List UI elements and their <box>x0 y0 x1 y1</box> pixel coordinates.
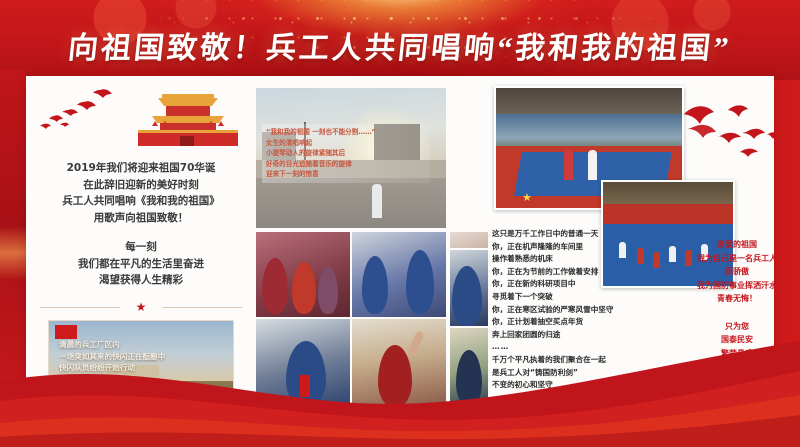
photo-singing-women <box>256 232 350 317</box>
body-line: 你，正在寒区试验的严寒风雪中坚守 <box>492 304 652 317</box>
intro-line: 渴望获得人生精彩 <box>34 272 248 289</box>
slogan-line: 青春无悔！ <box>656 292 774 306</box>
roof-shape <box>496 88 682 114</box>
photo-portrait-worker <box>450 250 488 326</box>
caption-line: 迎来下一刻的惊喜 <box>266 169 426 180</box>
star-icon: ★ <box>522 191 532 204</box>
caption-line: 好奇的目光追随着音乐的旋律 <box>266 159 426 170</box>
caption-line: 小提琴动人的旋律紧随其后 <box>266 148 426 159</box>
intro-line: 我们都在平凡的生活里奋进 <box>34 256 248 273</box>
intro-line: 2019年我们将迎来祖国70华诞 <box>34 160 248 177</box>
red-floor-shape <box>603 204 733 224</box>
body-line: 你，正在为节前的工作做着安排 <box>492 266 652 279</box>
slogan-line: 我为国防事业挥洒汗水 <box>656 279 774 293</box>
bike-photo-caption: “我和我的祖国 一刻也不能分割……” 女生的清唱响起 小提琴动人的旋律紧随其后 … <box>262 124 430 183</box>
left-intro-text: 2019年我们将迎来祖国70华诞 在此辞旧迎新的美好时刻 兵工人共同唱响《我和我… <box>34 160 248 289</box>
person-figure <box>292 262 316 314</box>
intro-line: 每一刻 <box>34 239 248 256</box>
divider-line-right <box>162 307 242 308</box>
road-shape <box>256 178 446 228</box>
person-figure <box>588 150 597 180</box>
red-silk-wave-icon <box>0 327 800 447</box>
tiananmen-gate-icon <box>132 88 244 150</box>
caption-line: “我和我的祖国 一刻也不能分割……” <box>266 127 426 138</box>
page-title: 向祖国致敬！兵工人共同唱响“我和我的祖国” <box>0 23 800 67</box>
person-figure <box>262 258 288 314</box>
person-figure <box>452 266 482 326</box>
person-figure <box>406 250 434 314</box>
flying-doves-icon <box>38 86 136 138</box>
caption-line: 女生的清唱响起 <box>266 138 426 149</box>
body-line: 操作着熟悉的机床 <box>492 253 652 266</box>
slogan-line: 而骄傲 <box>656 265 774 279</box>
star-divider: ★ <box>40 300 242 314</box>
body-line: 这只是万千工作日中的普通一天 <box>492 228 652 241</box>
street-bicycle-photo: “我和我的祖国 一刻也不能分割……” 女生的清唱响起 小提琴动人的旋律紧随其后 … <box>256 88 446 228</box>
body-line: 寻觅着下一个突破 <box>492 291 652 304</box>
wall-mural-shape <box>496 114 682 148</box>
poster-root: 向祖国致敬！兵工人共同唱响“我和我的祖国” <box>0 0 800 447</box>
slogan-line: 我为自己是一名兵工人 <box>656 252 774 266</box>
person-figure <box>318 266 338 314</box>
title-banner: 向祖国致敬！兵工人共同唱响“我和我的祖国” <box>0 0 800 80</box>
flying-doves-icon <box>674 90 774 186</box>
person-figure <box>564 150 573 180</box>
photo-two-workers <box>352 232 446 317</box>
body-line: 你，正在新的科研项目中 <box>492 278 652 291</box>
slogan-line: 亲爱的祖国 <box>656 238 774 252</box>
star-icon: ★ <box>135 301 147 313</box>
body-line: 你，正在机声隆隆的车间里 <box>492 241 652 254</box>
intro-line: 用歌声向祖国致敬！ <box>34 210 248 227</box>
cyclist-figure <box>372 184 382 218</box>
person-figure <box>362 256 388 314</box>
intro-line: 在此辞旧迎新的美好时刻 <box>34 177 248 194</box>
divider-line-left <box>40 307 120 308</box>
intro-line: 兵工人共同唱响《我和我的祖国》 <box>34 193 248 210</box>
photo-texture <box>450 232 488 248</box>
